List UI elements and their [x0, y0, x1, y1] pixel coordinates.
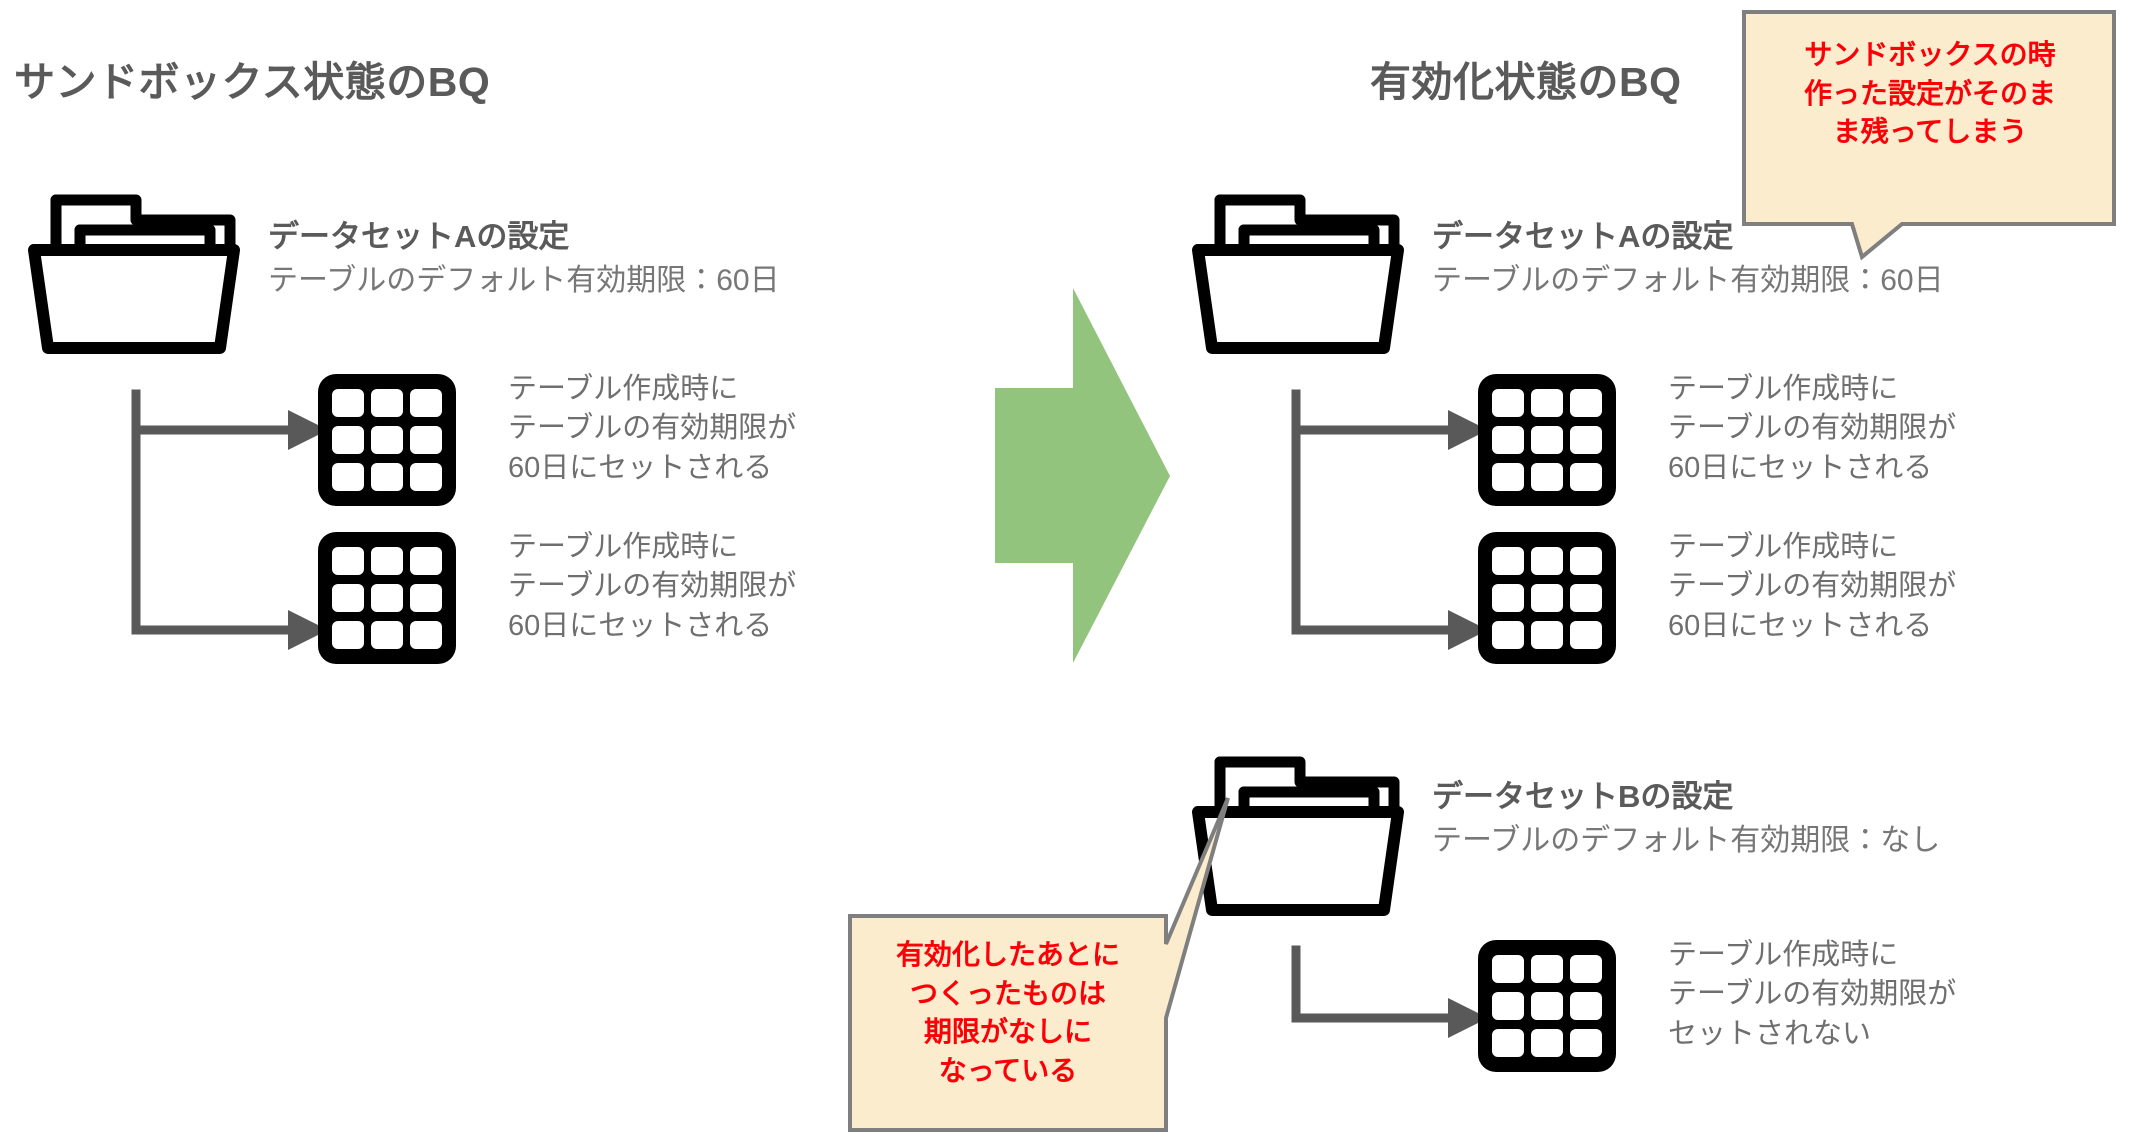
right-table-a1-note: テーブル作成時に テーブルの有効期限が 60日にセットされる — [1668, 370, 2088, 488]
table-grid-icon — [1478, 374, 1616, 506]
left-connector-bracket — [128, 390, 348, 640]
left-table-2-note: テーブル作成時に テーブルの有効期限が 60日にセットされる — [508, 528, 908, 646]
table-grid-icon — [1478, 532, 1616, 664]
left-dataset-a-title: データセットAの設定 — [268, 218, 780, 257]
right-dataset-b-subtitle: テーブルのデフォルト有効期限：なし — [1432, 821, 1940, 860]
right-panel-heading: 有効化状態のBQ — [1370, 48, 1682, 108]
diagram-canvas: サンドボックス状態のBQ データセットAの設定 テーブルのデフォルト有効期限：6… — [0, 0, 2140, 1148]
right-dataset-b-label: データセットBの設定 テーブルのデフォルト有効期限：なし — [1432, 778, 1940, 860]
left-panel-heading: サンドボックス状態のBQ — [14, 48, 490, 108]
left-table-1-note: テーブル作成時に テーブルの有効期限が 60日にセットされる — [508, 370, 908, 488]
right-connector-bracket-b — [1288, 950, 1508, 1060]
callout-after-enable-no-expiry: 有効化したあとに つくったものは 期限がなしに なっている — [848, 898, 1238, 1138]
left-dataset-a-label: データセットAの設定 テーブルのデフォルト有効期限：60日 — [268, 218, 780, 300]
callout-sandbox-text: サンドボックスの時 作った設定がそのま ま残ってしまう — [1756, 36, 2104, 152]
right-table-b1-note: テーブル作成時に テーブルの有効期限が セットされない — [1668, 936, 2088, 1054]
right-dataset-b-title: データセットBの設定 — [1432, 778, 1940, 817]
table-grid-icon — [318, 532, 456, 664]
right-connector-bracket-a — [1288, 390, 1508, 640]
table-grid-icon — [318, 374, 456, 506]
right-arrow-shape — [995, 288, 1170, 663]
right-table-a2-note: テーブル作成時に テーブルの有効期限が 60日にセットされる — [1668, 528, 2088, 646]
table-grid-icon — [1478, 940, 1616, 1072]
callout-sandbox-settings-remain: サンドボックスの時 作った設定がそのま ま残ってしまう — [1742, 2, 2140, 257]
callout-after-enable-text: 有効化したあとに つくったものは 期限がなしに なっている — [858, 936, 1158, 1091]
left-dataset-a-subtitle: テーブルのデフォルト有効期限：60日 — [268, 261, 780, 300]
folder-open-icon — [1188, 178, 1404, 358]
folder-open-icon — [24, 178, 240, 358]
right-dataset-a-subtitle: テーブルのデフォルト有効期限：60日 — [1432, 261, 1944, 300]
